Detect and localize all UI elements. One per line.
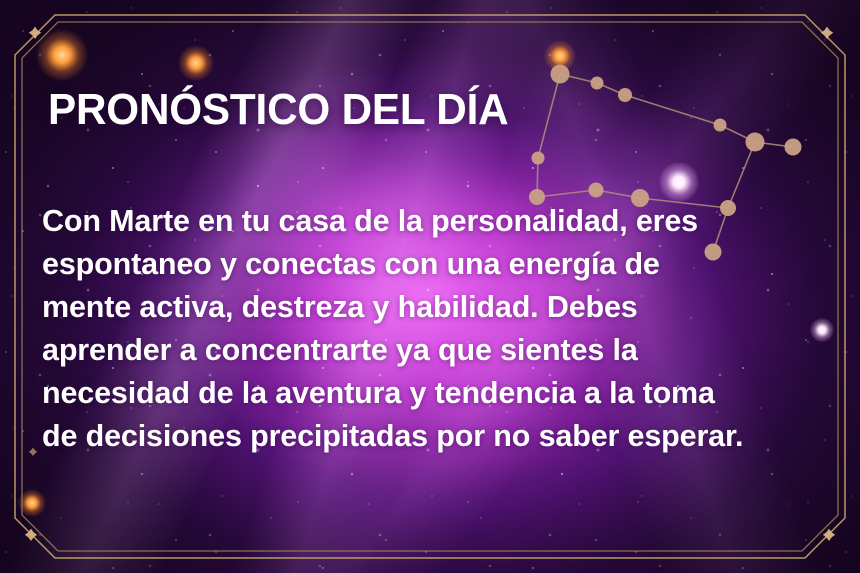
horoscope-body-text: Con Marte en tu casa de la personalidad,… <box>42 200 818 458</box>
horoscope-card: PRONÓSTICO DEL DÍA Con Marte en tu casa … <box>0 0 860 573</box>
page-title: PRONÓSTICO DEL DÍA <box>48 88 508 132</box>
